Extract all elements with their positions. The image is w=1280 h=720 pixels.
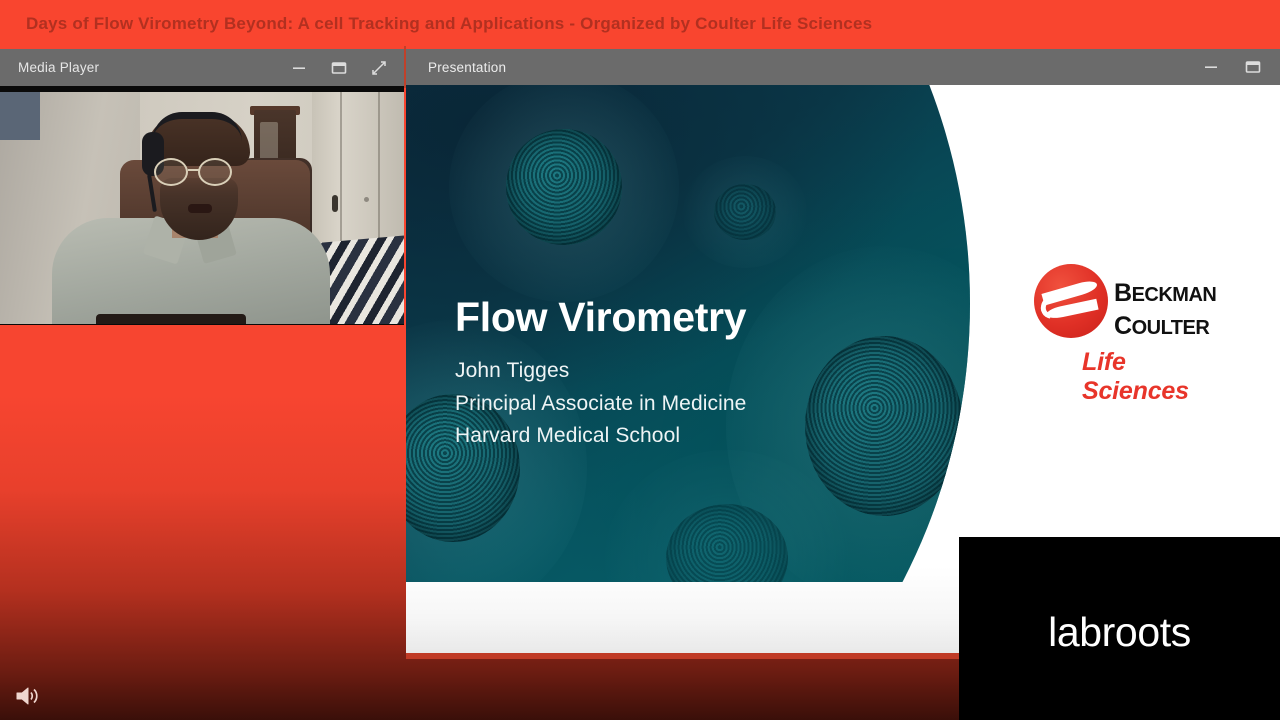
speaker-volume-icon[interactable] (14, 684, 42, 708)
logo-tagline-life-sciences: Life Sciences (1082, 348, 1226, 406)
slide-presenter-role: Principal Associate in Medicine (455, 388, 746, 421)
slide-heading: Flow Virometry (455, 296, 746, 339)
media-player-window-controls (288, 49, 390, 86)
desk-edge (96, 314, 246, 324)
cell-graphic (702, 173, 788, 251)
headset-band (152, 112, 242, 142)
cell-graphic (484, 107, 644, 267)
presenter-mouth (188, 204, 212, 213)
presentation-window-controls (1200, 49, 1264, 85)
media-player-window: Media Player (0, 49, 404, 325)
media-player-video[interactable] (0, 86, 404, 325)
minimize-icon[interactable] (288, 57, 310, 79)
door-handle (332, 195, 338, 212)
cabinet-glass (260, 122, 278, 162)
media-player-title: Media Player (18, 60, 99, 75)
labroots-watermark: labroots (959, 537, 1280, 720)
slide-presenter-name: John Tigges (455, 355, 746, 388)
door-knob (364, 197, 369, 202)
beckman-coulter-logo: Beckman Coulter Life Sciences (1026, 264, 1226, 382)
banner-title: Days of Flow Virometry Beyond: A cell Tr… (26, 14, 1256, 34)
webinar-player-page: Days of Flow Virometry Beyond: A cell Tr… (0, 0, 1280, 720)
expand-diagonal-icon[interactable] (368, 57, 390, 79)
webcam-feed (0, 92, 404, 324)
restore-window-icon[interactable] (1242, 56, 1264, 78)
wall-picture (0, 92, 40, 140)
presentation-title: Presentation (428, 60, 506, 75)
logo-word-coulter: Coulter (1114, 307, 1216, 340)
cell-graphic (642, 483, 812, 582)
glasses-lens-right (198, 158, 232, 186)
labroots-wordmark: labroots (1048, 609, 1191, 656)
logo-word-beckman: Beckman (1114, 274, 1216, 307)
slide-text-block: Flow Virometry John Tigges Principal Ass… (455, 296, 746, 453)
presentation-titlebar[interactable]: Presentation (406, 49, 1280, 85)
beckman-coulter-mark-icon (1034, 264, 1108, 338)
minimize-icon[interactable] (1200, 56, 1222, 78)
slide-presenter-institution: Harvard Medical School (455, 420, 746, 453)
glasses-lens-left (154, 158, 188, 186)
media-player-titlebar[interactable]: Media Player (0, 49, 404, 86)
beckman-coulter-wordmark: Beckman Coulter (1114, 274, 1216, 339)
presenter-glasses (152, 158, 246, 186)
top-banner: Days of Flow Virometry Beyond: A cell Tr… (0, 0, 1280, 48)
restore-window-icon[interactable] (328, 57, 350, 79)
